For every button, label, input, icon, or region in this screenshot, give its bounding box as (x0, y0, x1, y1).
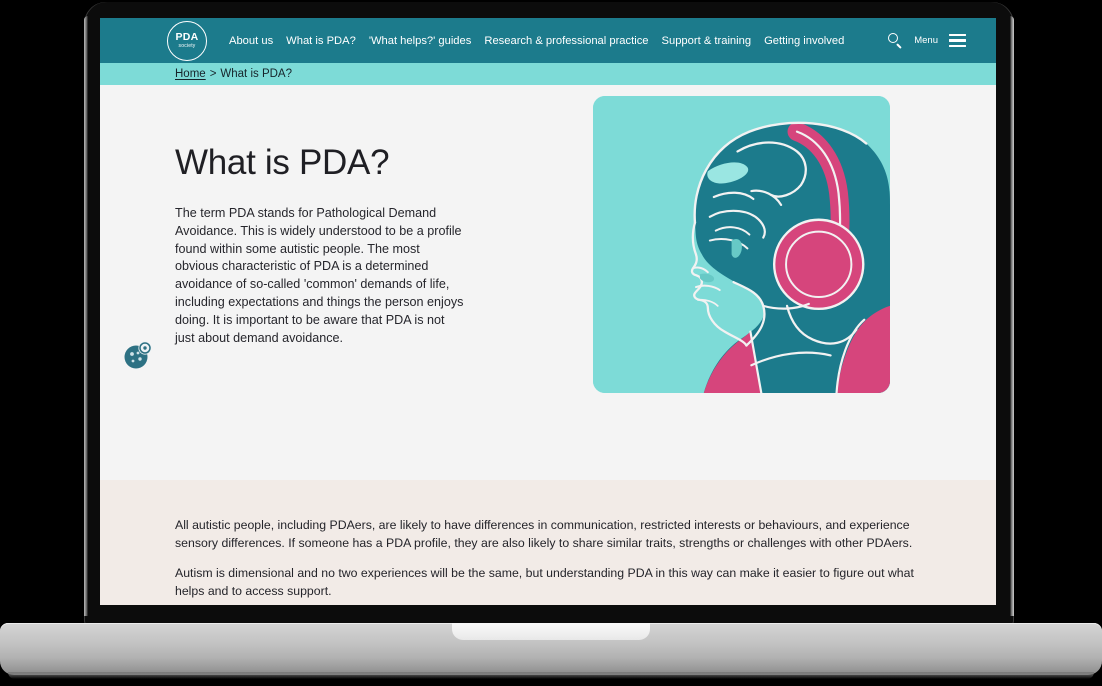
nav-item-support-training[interactable]: Support & training (662, 35, 752, 47)
nav-item-getting-involved[interactable]: Getting involved (764, 35, 844, 47)
laptop-device-mockup: PDA society About us What is PDA? 'What … (0, 0, 1102, 686)
lower-content-section: All autistic people, including PDAers, a… (100, 480, 996, 605)
site-header: PDA society About us What is PDA? 'What … (100, 18, 996, 63)
page-title: What is PDA? (175, 143, 475, 183)
primary-navigation: About us What is PDA? 'What helps?' guid… (229, 35, 844, 47)
hamburger-icon[interactable] (949, 34, 966, 47)
search-icon-handle (897, 43, 902, 48)
hamburger-line-1 (949, 34, 966, 36)
nav-item-what-helps-guides[interactable]: 'What helps?' guides (369, 35, 472, 47)
hero-text-column: What is PDA? The term PDA stands for Pat… (175, 85, 475, 480)
breadcrumb: Home > What is PDA? (100, 63, 996, 85)
hero-section: What is PDA? The term PDA stands for Pat… (100, 85, 996, 480)
pda-society-logo[interactable]: PDA society (167, 21, 207, 61)
cookie-settings-icon[interactable] (123, 341, 153, 371)
nav-item-about-us[interactable]: About us (229, 35, 273, 47)
logo-secondary-text: society (179, 44, 196, 49)
breadcrumb-link-home[interactable]: Home (175, 68, 206, 80)
hero-illustration-artwork (593, 96, 890, 393)
search-icon[interactable] (888, 33, 903, 48)
lower-paragraph-1: All autistic people, including PDAers, a… (175, 517, 926, 552)
search-icon-lens (888, 33, 898, 43)
breadcrumb-current-page: What is PDA? (220, 68, 292, 80)
browser-viewport: PDA society About us What is PDA? 'What … (100, 18, 996, 605)
menu-label[interactable]: Menu (914, 35, 938, 46)
lower-paragraph-2: Autism is dimensional and no two experie… (175, 565, 926, 600)
nav-item-research-professional-practice[interactable]: Research & professional practice (484, 35, 648, 47)
hero-intro-paragraph: The term PDA stands for Pathological Dem… (175, 205, 465, 347)
hamburger-line-2 (949, 39, 966, 41)
nav-item-what-is-pda[interactable]: What is PDA? (286, 35, 356, 47)
logo-primary-text: PDA (175, 32, 198, 43)
breadcrumb-separator: > (210, 68, 217, 80)
hamburger-line-3 (949, 45, 966, 47)
laptop-base-shadow (8, 672, 1094, 679)
laptop-base-notch (452, 623, 650, 640)
header-tools: Menu (888, 33, 966, 48)
hero-illustration (593, 96, 890, 393)
